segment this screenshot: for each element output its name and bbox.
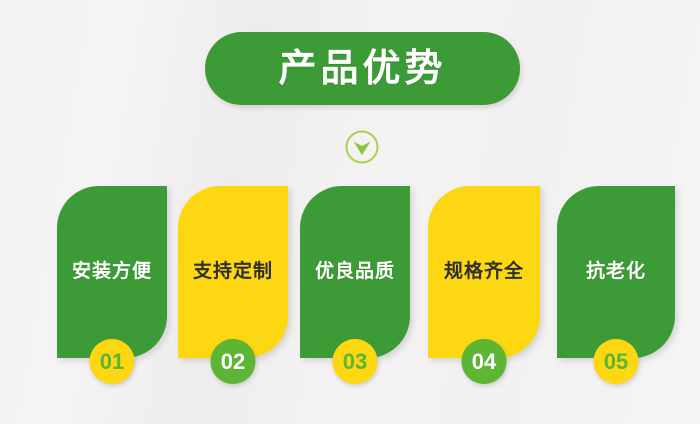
chevron-down-circle-icon (344, 129, 380, 165)
advantage-card-label: 规格齐全 (428, 262, 540, 281)
advantage-card-3[interactable]: 优良品质 03 (300, 186, 410, 358)
advantage-card-number-badge: 05 (594, 339, 639, 384)
advantage-card-label: 安装方便 (57, 262, 167, 281)
advantage-card-number-badge: 04 (462, 339, 507, 384)
advantage-card-4[interactable]: 规格齐全 04 (428, 186, 540, 358)
advantage-card-list: 安装方便 01 支持定制 02 优良品质 03 规格齐全 04 抗老化 05 (0, 186, 700, 386)
advantage-card-label: 优良品质 (300, 262, 410, 281)
page-title: 产品优势 (278, 50, 446, 88)
advantage-card-5[interactable]: 抗老化 05 (557, 186, 675, 358)
advantage-card-number-badge: 02 (211, 339, 256, 384)
advantage-card-label: 支持定制 (178, 262, 288, 281)
advantage-card-number-badge: 03 (333, 339, 378, 384)
advantage-card-2[interactable]: 支持定制 02 (178, 186, 288, 358)
product-advantages-banner: 产品优势 安装方便 01 支持定制 02 优良品质 03 规格齐全 04 抗老化… (0, 0, 700, 424)
advantage-card-label: 抗老化 (557, 262, 675, 281)
advantage-card-number-badge: 01 (90, 339, 135, 384)
advantage-card-1[interactable]: 安装方便 01 (57, 186, 167, 358)
section-title-banner: 产品优势 (205, 32, 520, 105)
